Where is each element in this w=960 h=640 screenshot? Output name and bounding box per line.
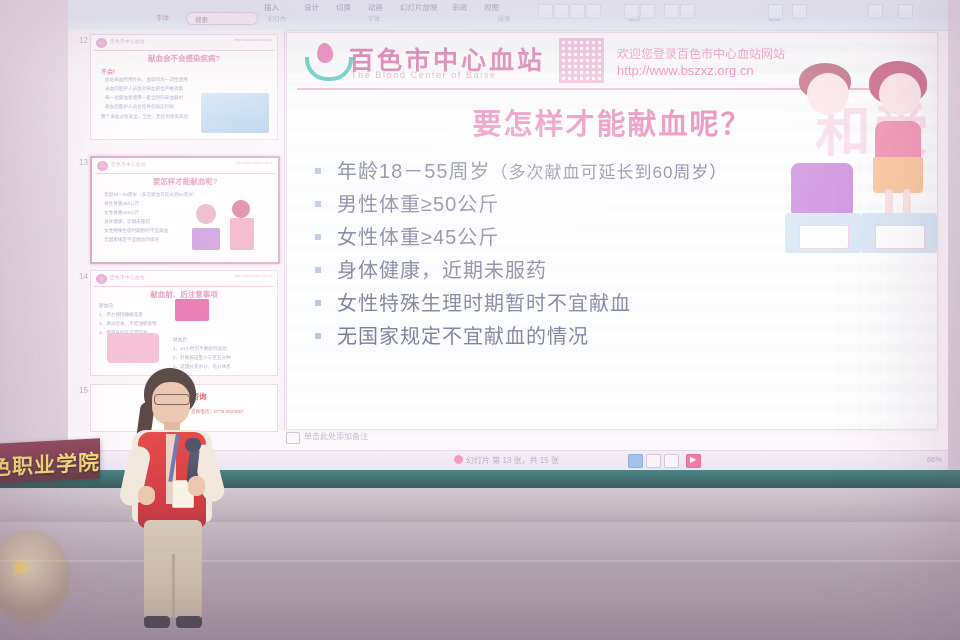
bold-button[interactable]	[538, 4, 553, 19]
align-center-button[interactable]	[680, 4, 695, 19]
find-button[interactable]	[868, 4, 883, 19]
thumb-line: 年龄18－55周岁（多次献血可延长到60周岁）	[104, 192, 197, 198]
boy-scale-dial	[799, 225, 849, 249]
search-placeholder: 搜索	[195, 14, 208, 24]
thumbnail-number: 13	[72, 158, 88, 167]
slide-canvas[interactable]: 百色市中心血站 The Blood Center of Baise 欢迎您登录百…	[286, 32, 938, 430]
wall-banner-text: 色职业学院	[0, 446, 100, 482]
thumb-url: http://www.bszxz.org.cn	[234, 38, 272, 43]
ribbon-tab-5[interactable]: 审阅	[452, 2, 467, 13]
thumb-image	[107, 333, 159, 363]
ribbon-group-1: 幻灯片	[268, 14, 286, 23]
zoom-level-label[interactable]: 66%	[927, 455, 942, 464]
girl-top	[875, 121, 921, 161]
presenter-shoe-left	[144, 616, 170, 628]
thumbnail-number: 12	[72, 36, 88, 45]
thumbnail-slide-14[interactable]: 百色市中心血站 http://www.bszxz.org.cn 献血前、后注意事…	[90, 270, 278, 376]
thumb-line: 男性体重≥50公斤	[104, 201, 139, 207]
thumb-header: 百色市中心血站 http://www.bszxz.org.cn	[95, 160, 275, 173]
view-reading-button[interactable]	[664, 454, 679, 468]
bullet-item: 无国家规定不宜献血的情况	[315, 320, 915, 353]
bullet-item: 女性特殊生理时期暂时不宜献血	[315, 287, 915, 320]
bullet-text: 男性体重≥50公斤	[337, 188, 499, 217]
bullet-marker-icon	[315, 267, 321, 273]
thumb-divider	[94, 50, 274, 51]
thumb-title: 献血会不会感染疾病?	[91, 53, 277, 64]
wall-banner: 色职业学院	[0, 438, 100, 483]
girl-skirt	[873, 157, 923, 193]
view-sorter-button[interactable]	[646, 454, 661, 468]
wall-left-panel	[0, 0, 70, 470]
thumb-divider	[95, 173, 275, 174]
search-input[interactable]: 搜索	[186, 12, 258, 25]
presenter-hand-right	[188, 476, 205, 496]
thumb-kid-head	[196, 204, 216, 224]
bullet-text: 无国家规定不宜献血的情况	[337, 320, 589, 349]
thumb-url: http://www.bszxz.org.cn	[235, 161, 273, 166]
thumb-line: 2、清淡饮食，不吃油腻食物	[99, 321, 157, 327]
thumb-line: 献血后:	[173, 337, 188, 343]
thumb-line: 身体健康，近期未服药	[104, 219, 150, 225]
arrange-button[interactable]	[792, 4, 807, 19]
thumb-line: 整个采血过程安全、卫生、无任何感染风险	[101, 114, 188, 120]
bullet-text: 年龄18－55周岁（多次献血可延长到60周岁）	[337, 155, 727, 184]
thumb-kid-body	[192, 228, 220, 250]
thumb-line: 女性体重≥45公斤	[104, 210, 139, 216]
ribbon-group-3: 段落	[498, 14, 510, 23]
bullet-text: 身体健康，近期未服药	[337, 254, 547, 283]
align-left-button[interactable]	[664, 4, 679, 19]
start-slideshow-button[interactable]: ▶	[686, 454, 701, 468]
girl-head	[879, 73, 921, 115]
thumb-line: 1、24小时内不要剧烈运动	[173, 346, 227, 352]
thumb-kid2-head	[232, 200, 250, 218]
org-name-en: The Blood Center of Baise	[351, 70, 497, 80]
ribbon-tab-3[interactable]: 动画	[368, 2, 383, 13]
powerpoint-ribbon[interactable]: 插入 设计 切换 动画 幻灯片放映 审阅 视图 幻灯片 字体 段落 绘图 编辑	[68, 0, 948, 31]
thumb-org-name: 百色市中心血站	[110, 275, 145, 281]
blood-drop-logo-icon	[96, 274, 107, 284]
thumb-org-name: 百色市中心血站	[110, 39, 145, 45]
thumbnail-slide-13[interactable]: 百色市中心血站 http://www.bszxz.org.cn 要怎样才能献血呢…	[90, 156, 280, 264]
bullet-marker-icon	[315, 168, 321, 174]
notes-pane[interactable]: 单击此处添加备注	[286, 430, 936, 450]
thumb-title: 要怎样才能献血呢?	[92, 176, 278, 187]
ribbon-tab-6[interactable]: 视图	[484, 2, 499, 13]
thumbnail-number: 15	[72, 386, 88, 395]
spellcheck-icon[interactable]	[454, 455, 463, 464]
replace-button[interactable]	[898, 4, 913, 19]
bullet-text: 女性特殊生理时期暂时不宜献血	[337, 287, 631, 316]
bullets-button[interactable]	[624, 4, 639, 19]
girl-scale-dial	[875, 225, 925, 249]
bullet-marker-icon	[315, 333, 321, 339]
thumb-kid2-body	[230, 218, 254, 250]
microphone-head	[185, 438, 201, 452]
thumb-line: 无国家规定不宜献血的情况	[104, 237, 159, 243]
slide-position-label: 幻灯片 第 13 张，共 15 张	[466, 455, 559, 466]
bullet-marker-icon	[315, 300, 321, 306]
wall-right-panel	[948, 0, 960, 470]
thumb-image	[201, 93, 269, 133]
thumb-header: 百色市中心血站 http://www.bszxz.org.cn	[94, 273, 274, 286]
thumbnail-slide-12[interactable]: 百色市中心血站 http://www.bszxz.org.cn 献血会不会感染疾…	[90, 34, 278, 140]
presenter	[110, 368, 230, 640]
notes-icon	[286, 432, 300, 444]
thumbnail-number: 14	[72, 272, 88, 281]
view-normal-button[interactable]	[628, 454, 643, 468]
boy-head	[807, 73, 849, 115]
presenter-glasses	[154, 394, 190, 405]
thumb-url: http://www.bszxz.org.cn	[234, 274, 272, 279]
ribbon-tab-2[interactable]: 切换	[336, 2, 351, 13]
play-icon: ▶	[690, 455, 696, 464]
notes-placeholder: 单击此处添加备注	[304, 431, 368, 442]
lecture-hall-photo: 插入 设计 切换 动画 幻灯片放映 审阅 视图 幻灯片 字体 段落 绘图 编辑	[0, 0, 960, 640]
thumb-line: 2、针眼按压至少三至五分钟	[173, 355, 231, 361]
bullet-text: 女性体重≥45公斤	[337, 221, 499, 250]
thumb-divider	[94, 286, 274, 287]
font-color-button[interactable]	[586, 4, 601, 19]
ribbon-tab-4[interactable]: 幻灯片放映	[400, 2, 438, 13]
blood-drop-in-hands-logo-icon	[305, 41, 345, 81]
thumb-line: 献血前:	[99, 303, 114, 309]
presenter-pants-seam	[172, 554, 175, 618]
numbering-button[interactable]	[640, 4, 655, 19]
presenter-hand-left	[138, 486, 155, 505]
ribbon-tab-1[interactable]: 设计	[304, 2, 319, 13]
blood-drop-logo-icon	[97, 161, 108, 171]
star-emblem-icon: ★	[8, 552, 38, 582]
underline-button[interactable]	[570, 4, 585, 19]
blood-drop-logo-icon	[96, 38, 107, 48]
boy-body	[791, 163, 853, 215]
ribbon-group-2: 字体	[368, 14, 380, 23]
presenter-shoe-right	[176, 616, 202, 628]
bullet-marker-icon	[315, 201, 321, 207]
thumb-line: 不会!	[101, 67, 115, 76]
quick-label: 字体	[156, 12, 169, 22]
qr-code-icon	[559, 38, 604, 83]
website-url: http://www.bszxz.org.cn	[617, 63, 754, 78]
thumb-line: 采血前医护人员会对采血部位严格消毒	[105, 86, 183, 92]
italic-button[interactable]	[554, 4, 569, 19]
bullet-marker-icon	[315, 234, 321, 240]
thumb-line: 每一位献血者使用一套全新的采血器材	[105, 95, 183, 101]
thumb-image	[175, 299, 209, 321]
thumb-line: 血站采血所用针头、血袋均为一次性使用	[105, 77, 188, 83]
welcome-text: 欢迎您登录百色市中心血站网站	[617, 45, 785, 62]
thumb-header: 百色市中心血站 http://www.bszxz.org.cn	[94, 37, 274, 50]
shapes-button[interactable]	[768, 4, 783, 19]
thumb-line: 女性特殊生理时期暂时不宜献血	[104, 228, 168, 234]
thumb-org-name: 百色市中心血站	[111, 162, 146, 168]
girl-on-scale-illustration	[855, 61, 938, 291]
ribbon-tab-0[interactable]: 插入	[264, 2, 279, 13]
thumb-line: 1、尽力保持睡眠充足	[99, 312, 143, 318]
thumb-line: 献血后医护人员会指导您按压针眼	[105, 104, 174, 110]
